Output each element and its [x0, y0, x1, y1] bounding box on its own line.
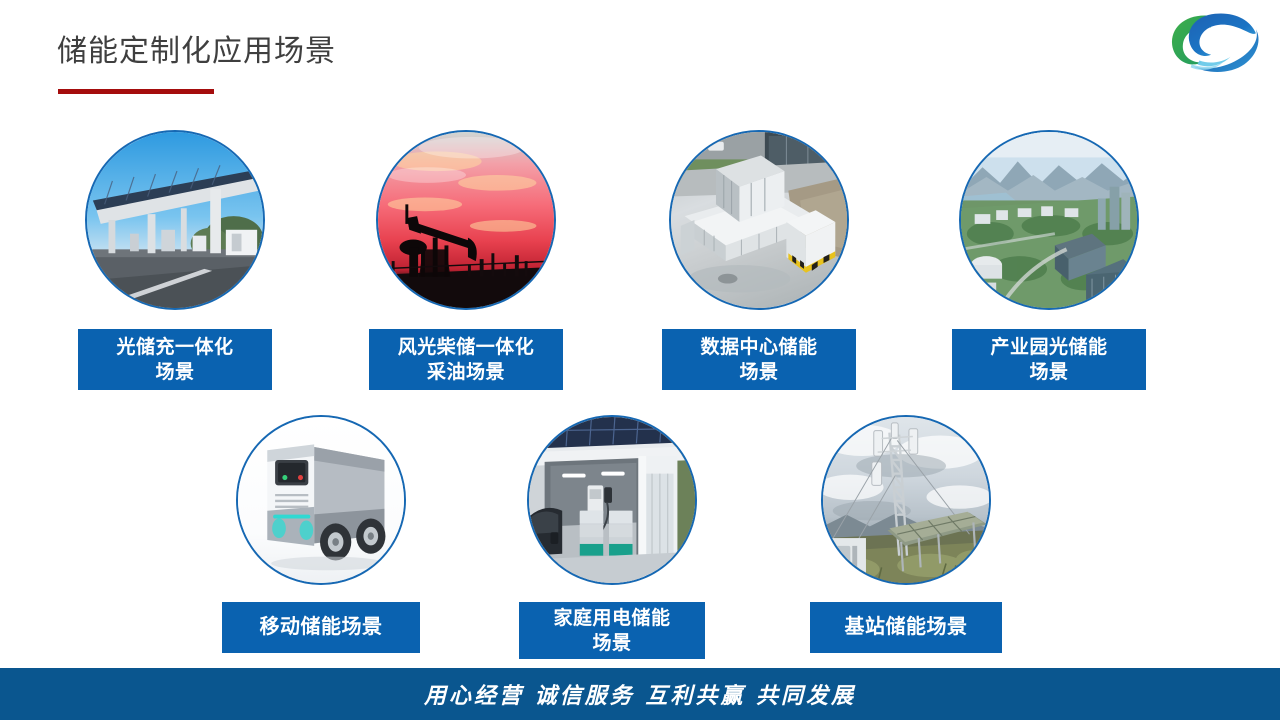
scene-image-industrial-park-aerial-photo: [959, 130, 1139, 310]
scene-card-data-center-storage[interactable]: 数据中心储能 场景: [662, 130, 856, 390]
scene-card-wind-solar-diesel-storage-oil[interactable]: 风光柴储一体化 采油场景: [369, 130, 563, 390]
slide-canvas: 储能定制化应用场景: [0, 0, 1280, 720]
scene-image-telecom-tower-solar-panel-photo: [821, 415, 991, 585]
scene-image-solar-carport-charging-station-photo: [85, 130, 265, 310]
scene-label-wind-solar-diesel-storage-oil: 风光柴储一体化 采油场景: [369, 329, 563, 390]
scene-label-base-station-storage: 基站储能场景: [810, 602, 1002, 653]
scene-image-energy-storage-containers-aerial-photo: [669, 130, 849, 310]
scene-card-pv-storage-charging[interactable]: 光储充一体化 场景: [78, 130, 272, 390]
scene-image-mobile-energy-storage-vehicle-photo: [236, 415, 406, 585]
page-title: 储能定制化应用场景: [57, 32, 336, 72]
scene-card-mobile-storage[interactable]: 移动储能场景: [222, 415, 420, 655]
scene-card-base-station-storage[interactable]: 基站储能场景: [810, 415, 1002, 655]
scene-label-industrial-park-pv-storage: 产业园光储能 场景: [952, 329, 1146, 390]
scene-image-oil-pumpjack-sunset-photo: [376, 130, 556, 310]
scene-label-data-center-storage: 数据中心储能 场景: [662, 329, 856, 390]
scene-label-home-storage: 家庭用电储能 场景: [519, 602, 705, 659]
scene-image-home-solar-battery-garage-photo: [527, 415, 697, 585]
scene-card-industrial-park-pv-storage[interactable]: 产业园光储能 场景: [952, 130, 1146, 390]
scene-label-pv-storage-charging: 光储充一体化 场景: [78, 329, 272, 390]
title-underline-rule: [58, 89, 214, 94]
scene-card-home-storage[interactable]: 家庭用电储能 场景: [519, 415, 705, 655]
company-wave-logo-icon: [1166, 6, 1264, 80]
scene-label-mobile-storage: 移动储能场景: [222, 602, 420, 653]
footer-slogan: 用心经营 诚信服务 互利共赢 共同发展: [0, 668, 1280, 720]
